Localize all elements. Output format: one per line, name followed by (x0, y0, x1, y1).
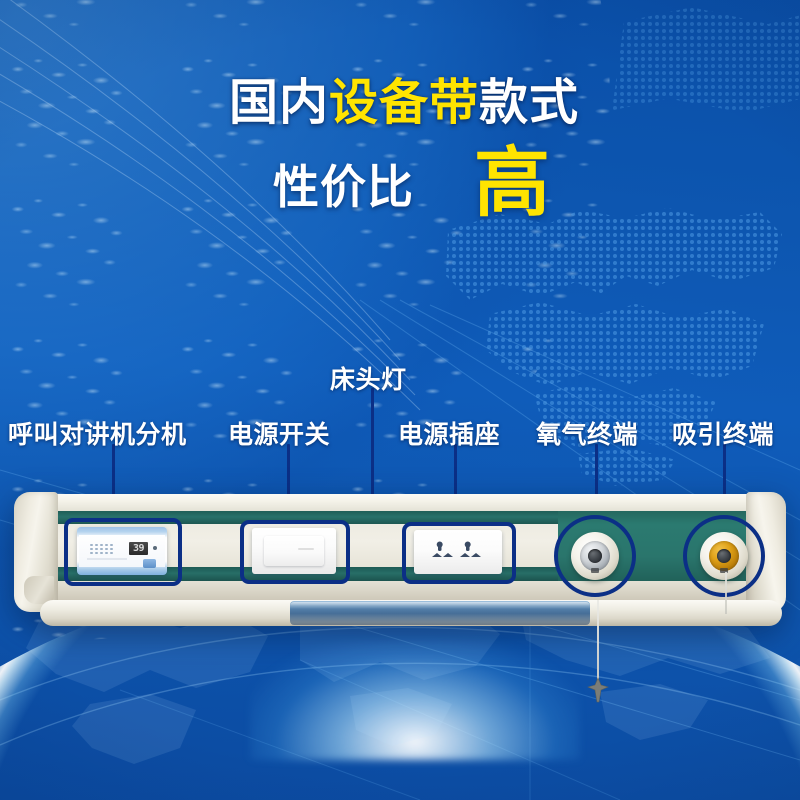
oxygen-hose-cord (597, 600, 599, 688)
callout-label-power-switch: 电源开关 (228, 415, 330, 451)
callout-label-power-socket: 电源插座 (398, 415, 500, 451)
speaker-grille-icon (89, 543, 115, 555)
power-socket-plate (414, 530, 502, 574)
callout-label-oxygen-outlet: 氧气终端 (536, 415, 638, 451)
background-vignette (0, 0, 800, 800)
switch-nick-mark (298, 548, 314, 550)
socket-holes-icon[interactable] (414, 530, 502, 574)
intercom-display: 39 (129, 542, 148, 555)
callout-label-call-intercom: 呼叫对讲机分机 (8, 415, 187, 451)
power-switch-rocker[interactable] (264, 536, 324, 566)
panel-endcap-left (14, 492, 58, 612)
panel-endcap-right (746, 492, 786, 612)
suction-hose-cord (725, 572, 727, 614)
power-switch-plate (252, 528, 336, 574)
panel-rail-gloss (290, 602, 590, 609)
oxygen-port-core (588, 549, 602, 563)
oxygen-port-label (591, 568, 599, 573)
intercom-led-indicator (153, 546, 157, 550)
panel-top-lip (30, 494, 778, 510)
suction-port-core (717, 549, 731, 563)
callout-label-bedside-lamp: 床头灯 (330, 360, 407, 396)
oxygen-terminal-outlet[interactable] (571, 532, 619, 580)
callout-label-suction-outlet: 吸引终端 (672, 415, 774, 451)
intercom-call-button[interactable] (143, 559, 156, 568)
suction-terminal-outlet[interactable] (700, 532, 748, 580)
call-intercom-device[interactable]: 39 (77, 527, 167, 575)
product-banner: 国内设备带款式 性价比 高 呼叫对讲机分机 电源开关 床头灯 电源插座 氧气终端… (0, 0, 800, 800)
cord-weight-icon (585, 676, 611, 704)
intercom-label-strip (87, 558, 127, 560)
